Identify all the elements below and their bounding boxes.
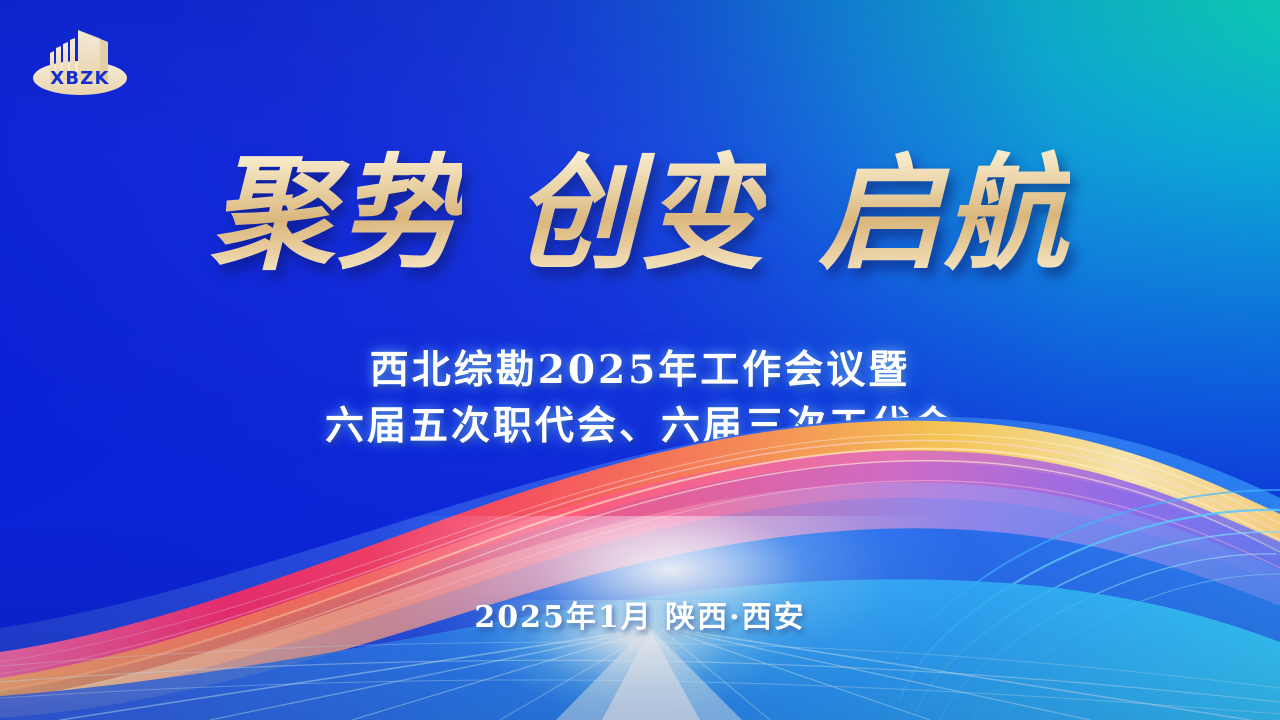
date-location: 2025年1月 陕西·西安 (0, 592, 1280, 636)
conference-poster: XBZK 聚势创变启航 西北综勘2025年工作会议暨 六届五次职代会、六届三次工… (0, 0, 1280, 720)
